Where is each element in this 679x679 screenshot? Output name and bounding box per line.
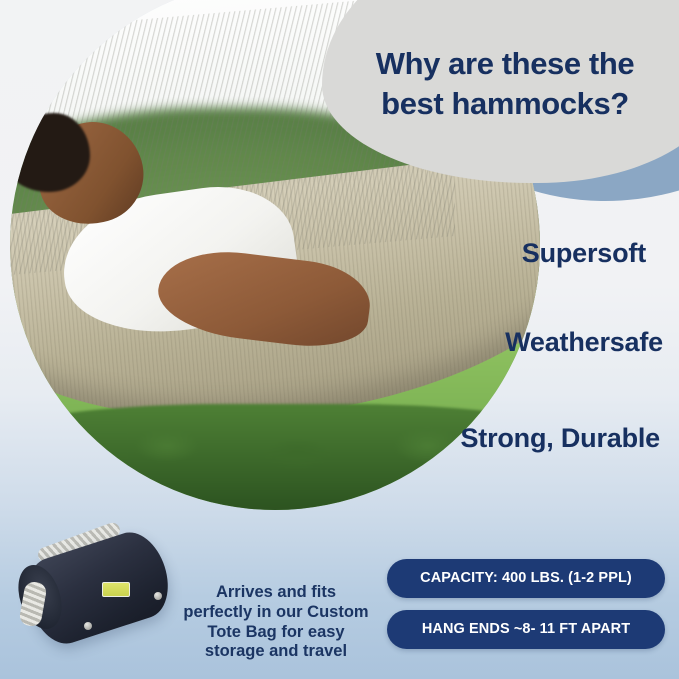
capacity-badge: CAPACITY: 400 LBS. (1-2 PPL) xyxy=(387,559,665,598)
feature-label-supersoft: Supersoft xyxy=(522,238,646,269)
hammock-product-infographic: Why are these the best hammocks? Superso… xyxy=(0,0,679,679)
tote-caption: Arrives and fits perfectly in our Custom… xyxy=(160,583,392,662)
feature-label-strong-durable: Strong, Durable xyxy=(460,423,660,454)
tote-bag-image xyxy=(14,534,174,654)
photo-hedge xyxy=(10,404,540,510)
hang-distance-badge: HANG ENDS ~8- 11 FT APART xyxy=(387,610,665,649)
tote-stud-icon xyxy=(84,622,92,630)
feature-label-weathersafe: Weathersafe xyxy=(505,327,663,358)
tote-brand-label xyxy=(102,582,130,597)
page-title: Why are these the best hammocks? xyxy=(335,44,675,125)
spec-badge-group: CAPACITY: 400 LBS. (1-2 PPL) HANG ENDS ~… xyxy=(387,559,665,649)
photo-person-hair xyxy=(10,113,90,193)
